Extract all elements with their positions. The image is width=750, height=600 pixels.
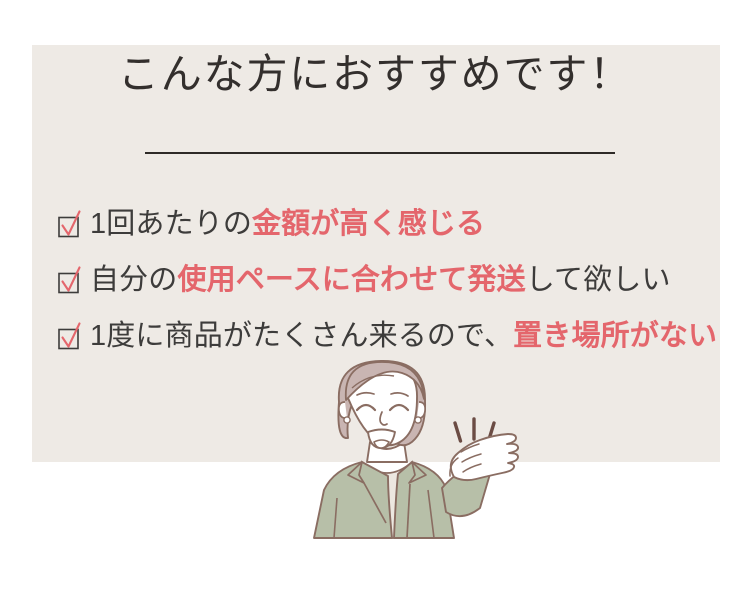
list-item-text-plain: 自分の: [90, 264, 177, 296]
smiling-woman-presenting-illustration: [282, 358, 522, 540]
banner-root: こんな方におすすめです！ 1回あたりの金額が高く感じる: [0, 0, 750, 600]
list-item: 1度に商品がたくさん来るので、置き場所がない: [58, 308, 718, 364]
woman-head: [338, 361, 425, 448]
list-item-text: 1度に商品がたくさん来るので、置き場所がない: [90, 322, 717, 351]
list-item-text-highlight: 金額が高く感じる: [252, 208, 485, 240]
page-title: こんな方におすすめです！: [118, 49, 632, 100]
list-item-text-plain-tail: して欲しい: [526, 264, 671, 296]
list-item-text: 自分の使用ペースに合わせて発送して欲しい: [90, 266, 671, 295]
list-item: 自分の使用ペースに合わせて発送して欲しい: [58, 252, 718, 308]
checkbox-checked-icon: [58, 210, 81, 238]
checkbox-checked-icon: [58, 266, 81, 294]
list-item: 1回あたりの金額が高く感じる: [58, 196, 718, 252]
list-item-text-highlight: 置き場所がない: [513, 320, 717, 352]
list-item-text-highlight: 使用ペースに合わせて発送: [177, 264, 525, 296]
checkbox-checked-icon: [58, 322, 81, 350]
list-item-text-plain: 1度に商品がたくさん来るので、: [90, 320, 513, 352]
heading-container: こんな方におすすめです！: [0, 49, 750, 100]
list-item-text: 1回あたりの金額が高く感じる: [90, 210, 485, 239]
list-item-text-plain: 1回あたりの: [90, 208, 252, 240]
checklist: 1回あたりの金額が高く感じる 自分の使用ペースに合わせて発送して欲しい: [58, 196, 718, 364]
heading-underline-rule: [145, 152, 615, 154]
